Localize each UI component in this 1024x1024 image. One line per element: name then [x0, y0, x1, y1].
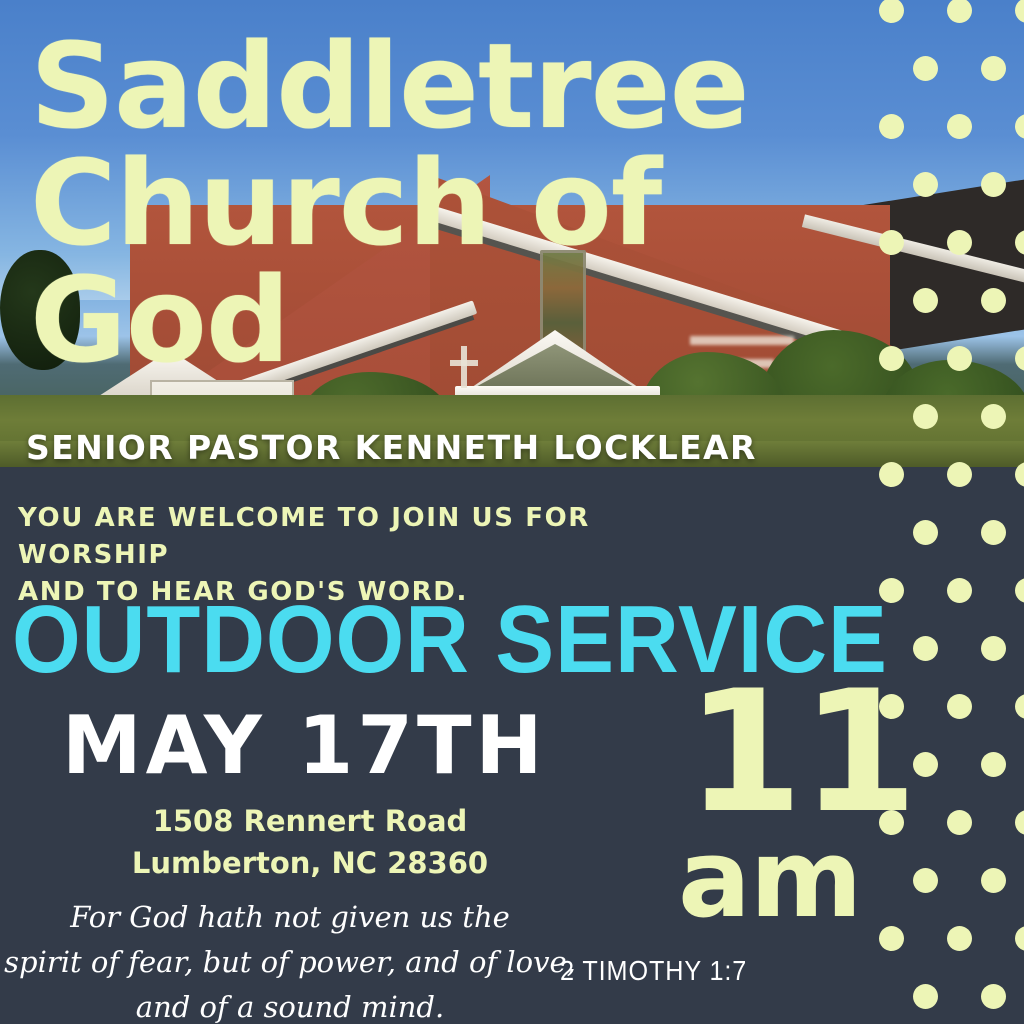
flyer-poster: Saddletree Church of God SENIOR PASTOR K… — [0, 0, 1024, 1024]
verse-line-1: For God hath not given us the — [0, 895, 580, 940]
verse-line-2: spirit of fear, but of power, and of lov… — [0, 940, 580, 985]
title-line-2: Church of — [30, 145, 790, 262]
title-line-1: Saddletree — [30, 28, 790, 145]
welcome-line-1: YOU ARE WELCOME TO JOIN US FOR WORSHIP — [18, 500, 718, 574]
service-time-number: 11 — [686, 668, 916, 836]
scripture-verse: For God hath not given us the spirit of … — [0, 895, 580, 1024]
service-time-period: am — [678, 826, 861, 934]
verse-line-3: and of a sound mind. — [0, 985, 580, 1024]
address-block: 1508 Rennert Road Lumberton, NC 28360 — [0, 800, 620, 884]
scripture-reference: 2 TIMOTHY 1:7 — [560, 955, 747, 987]
service-date: MAY 17TH — [62, 706, 547, 786]
address-line-2: Lumberton, NC 28360 — [0, 842, 620, 884]
pastor-name: SENIOR PASTOR KENNETH LOCKLEAR — [26, 428, 757, 467]
title-line-3: God — [30, 262, 790, 379]
page-title: Saddletree Church of God — [30, 28, 790, 378]
address-line-1: 1508 Rennert Road — [0, 800, 620, 842]
